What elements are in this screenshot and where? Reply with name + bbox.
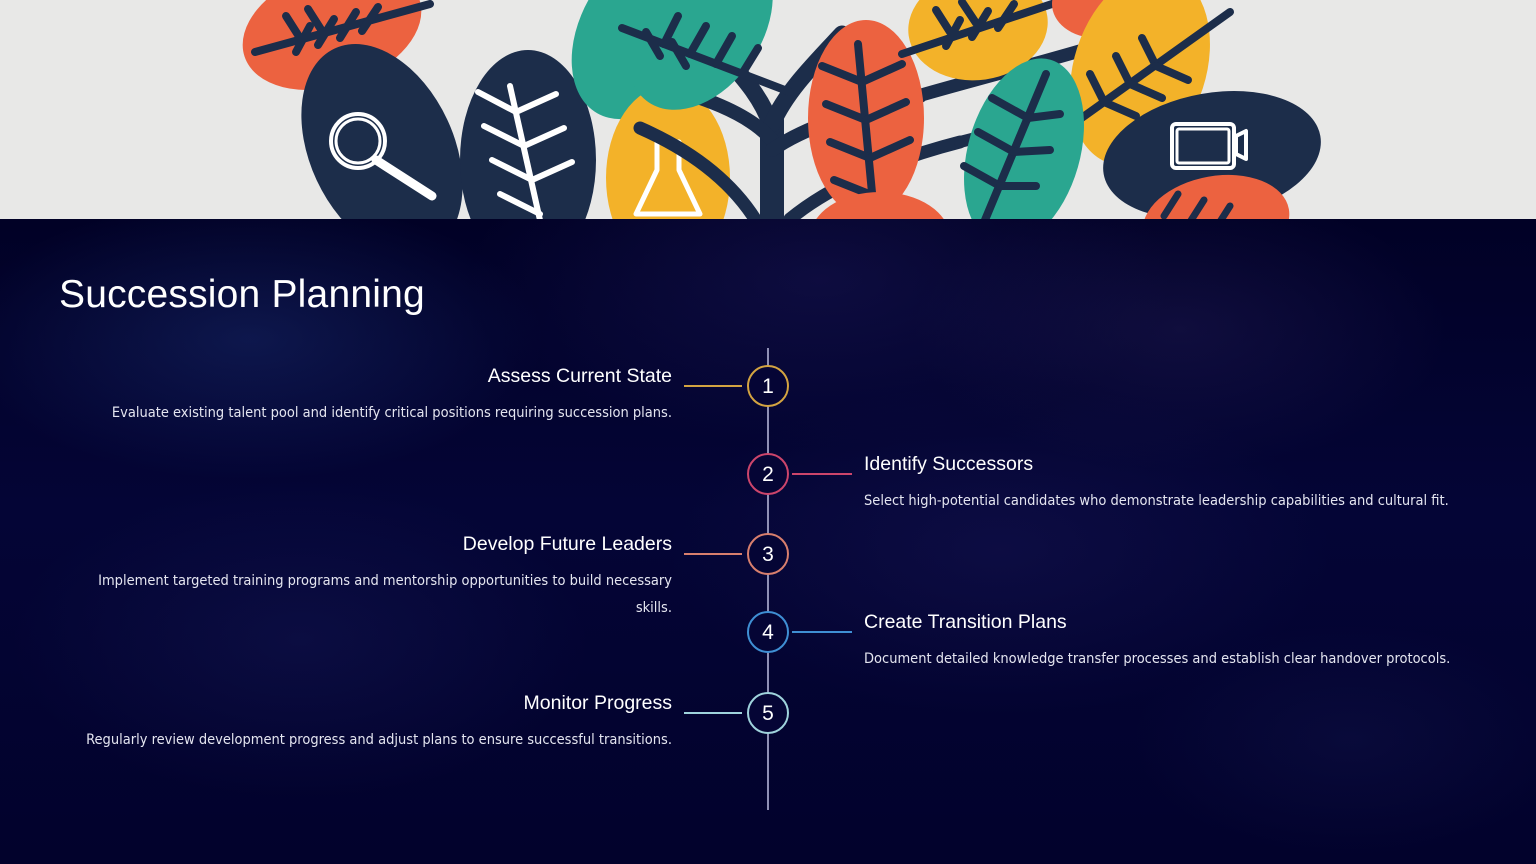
timeline-node-1[interactable]: 1 (747, 365, 789, 407)
timeline-entry-3: Develop Future Leaders Implement targete… (59, 533, 672, 622)
timeline-entry-4-description: Document detailed knowledge transfer pro… (864, 646, 1464, 673)
timeline-entry-1-title: Assess Current State (59, 365, 672, 388)
timeline-node-2-number: 2 (762, 464, 774, 485)
timeline-entry-2-description: Select high-potential candidates who dem… (864, 488, 1464, 515)
timeline-entry-5-description: Regularly review development progress an… (59, 727, 672, 754)
page-title: Succession Planning (59, 273, 425, 317)
timeline-node-2[interactable]: 2 (747, 453, 789, 495)
timeline-node-4[interactable]: 4 (747, 611, 789, 653)
timeline-connector-2 (792, 473, 852, 475)
timeline-entry-3-title: Develop Future Leaders (59, 533, 672, 556)
timeline-entry-2-title: Identify Successors (864, 453, 1464, 476)
timeline-entry-4-title: Create Transition Plans (864, 611, 1464, 634)
header-banner (0, 0, 1536, 219)
timeline-connector-4 (792, 631, 852, 633)
tree-illustration (0, 0, 1536, 219)
timeline-entry-5: Monitor Progress Regularly review develo… (59, 692, 672, 754)
timeline-node-4-number: 4 (762, 622, 774, 643)
timeline-entry-1-description: Evaluate existing talent pool and identi… (59, 400, 672, 427)
timeline-node-5-number: 5 (762, 703, 774, 724)
slide-root: Succession Planning 1 Assess Current Sta… (0, 0, 1536, 864)
timeline-entry-3-description: Implement targeted training programs and… (59, 568, 672, 622)
timeline-axis (767, 348, 769, 810)
timeline-node-5[interactable]: 5 (747, 692, 789, 734)
timeline-entry-2: Identify Successors Select high-potentia… (864, 453, 1464, 515)
timeline-entry-4: Create Transition Plans Document detaile… (864, 611, 1464, 673)
timeline-node-3[interactable]: 3 (747, 533, 789, 575)
timeline-connector-3 (684, 553, 742, 555)
timeline-entry-1: Assess Current State Evaluate existing t… (59, 365, 672, 427)
timeline-node-1-number: 1 (762, 376, 774, 397)
timeline-node-3-number: 3 (762, 544, 774, 565)
timeline-entry-5-title: Monitor Progress (59, 692, 672, 715)
timeline-connector-1 (684, 385, 742, 387)
timeline-connector-5 (684, 712, 742, 714)
